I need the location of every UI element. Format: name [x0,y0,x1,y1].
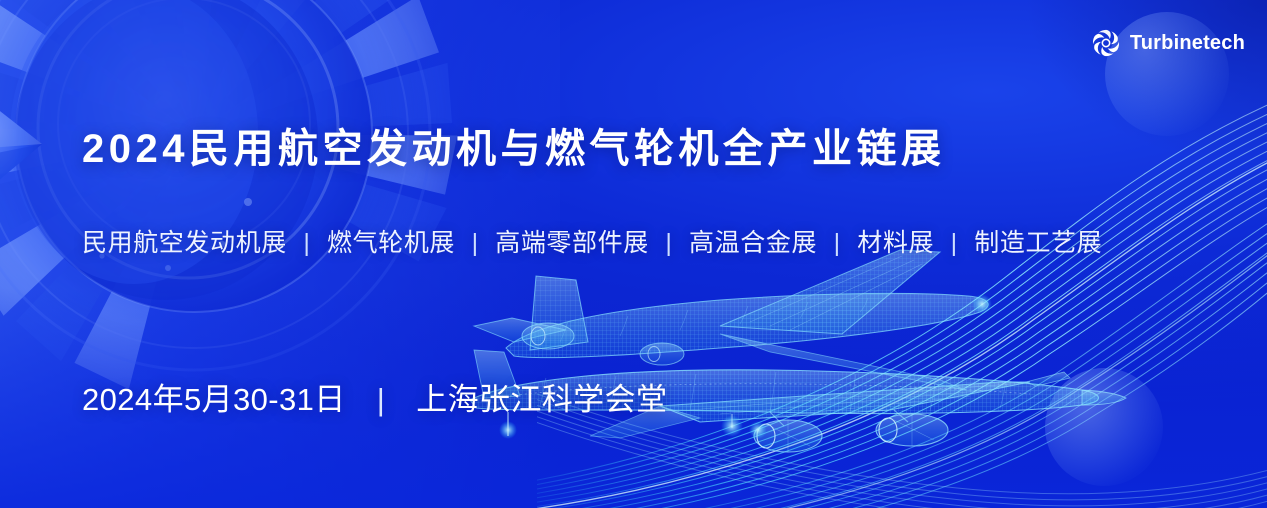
category-item-1: 燃气轮机展 [327,229,455,257]
banner-text-content: 2024民用航空发动机与燃气轮机全产业链展 民用航空发动机展 | 燃气轮机展 |… [0,0,1267,508]
category-separator: | [825,229,850,257]
event-banner: Turbinetech 2024民用航空发动机与燃气轮机全产业链展 民用航空发动… [0,0,1267,508]
category-item-4: 材料展 [857,229,934,257]
category-item-5: 制造工艺展 [974,229,1102,257]
event-headline: 2024民用航空发动机与燃气轮机全产业链展 [82,126,945,172]
event-venue: 上海张江科学会堂 [416,382,667,417]
exhibition-category-list: 民用航空发动机展 | 燃气轮机展 | 高端零部件展 | 高温合金展 | 材料展 … [82,228,1102,258]
category-item-2: 高端零部件展 [495,229,649,257]
category-separator: | [294,229,319,257]
event-date-venue: 2024年5月30-31日 | 上海张江科学会堂 [82,381,667,418]
brand-logo[interactable]: Turbinetech [1089,26,1245,60]
category-separator: | [942,229,967,257]
event-date: 2024年5月30-31日 [82,382,346,417]
category-item-3: 高温合金展 [689,229,817,257]
turbine-swirl-icon [1089,26,1123,60]
category-item-0: 民用航空发动机展 [82,229,287,257]
date-venue-separator: | [355,382,407,417]
brand-name: Turbinetech [1130,33,1245,53]
category-separator: | [656,229,681,257]
category-separator: | [463,229,488,257]
